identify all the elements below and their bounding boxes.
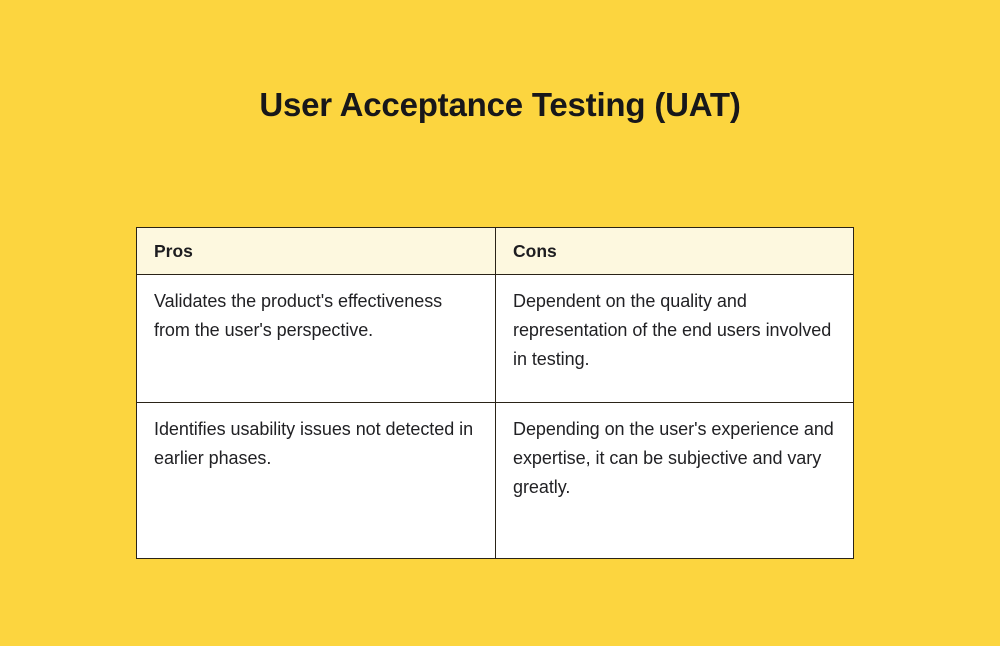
cell-text-cons-2: Depending on the user's experience and e… <box>513 415 837 502</box>
cell-pros-1: Validates the product's effectiveness fr… <box>137 275 496 403</box>
pros-cons-table-container: Pros Cons Validates the product's effect… <box>136 227 853 559</box>
cell-text-pros-1: Validates the product's effectiveness fr… <box>154 287 479 345</box>
cell-pros-2: Identifies usability issues not detected… <box>137 403 496 559</box>
slide-canvas: User Acceptance Testing (UAT) Pros Cons … <box>0 0 1000 646</box>
cell-text-cons-1: Dependent on the quality and representat… <box>513 287 837 374</box>
column-header-cons: Cons <box>496 228 854 275</box>
page-title: User Acceptance Testing (UAT) <box>0 82 1000 128</box>
cell-cons-1: Dependent on the quality and representat… <box>496 275 854 403</box>
table-body: Validates the product's effectiveness fr… <box>137 275 854 559</box>
cell-cons-2: Depending on the user's experience and e… <box>496 403 854 559</box>
column-header-pros: Pros <box>137 228 496 275</box>
cell-text-pros-2: Identifies usability issues not detected… <box>154 415 479 473</box>
table-header: Pros Cons <box>137 228 854 275</box>
table-header-row: Pros Cons <box>137 228 854 275</box>
table-row: Identifies usability issues not detected… <box>137 403 854 559</box>
pros-cons-table: Pros Cons Validates the product's effect… <box>136 227 854 559</box>
table-row: Validates the product's effectiveness fr… <box>137 275 854 403</box>
